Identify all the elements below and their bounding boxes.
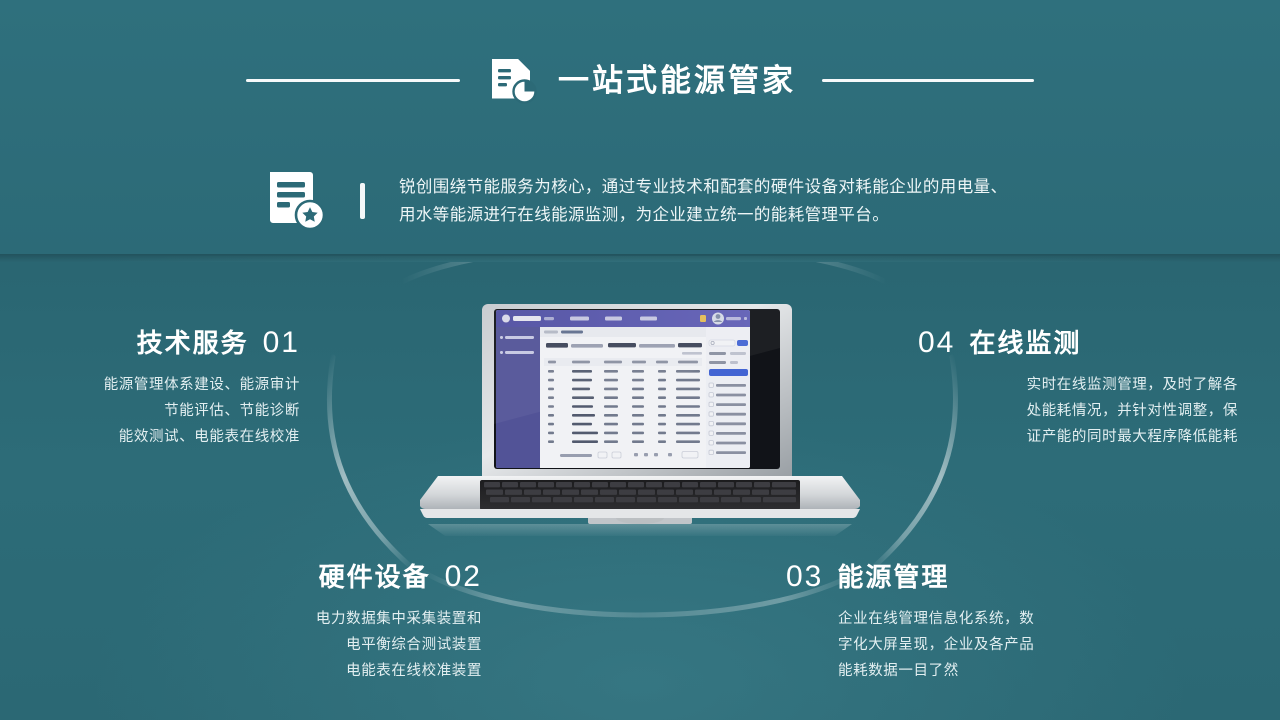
feature-02-line-3: 电能表在线校准装置 (0, 659, 482, 685)
brand: 一站式能源管家 (486, 53, 796, 107)
feature-block-02: 硬件设备 02 电力数据集中采集装置和 电平衡综合测试装置 电能表在线校准装置 (0, 562, 510, 684)
feature-04-line-1: 实时在线监测管理，及时了解各 (918, 373, 1238, 399)
header: 一站式能源管家 (0, 56, 1280, 104)
divider-line-left-icon (246, 79, 460, 82)
feature-block-01: 技术服务 01 能源管理体系建设、能源审计 节能评估、节能诊断 能效测试、电能表… (0, 328, 330, 450)
feature-03-heading: 03 能源管理 (786, 562, 1206, 592)
feature-01-line-2: 节能评估、节能诊断 (0, 399, 300, 425)
intro-line-1: 锐创围绕节能服务为核心，通过专业技术和配套的硬件设备对耗能企业的用电量、 (399, 173, 1007, 201)
feature-01-title: 技术服务 (137, 330, 249, 356)
intro-line-2: 用水等能源进行在线能源监测，为企业建立统一的能耗管理平台。 (399, 201, 1007, 229)
feature-01-body: 能源管理体系建设、能源审计 节能评估、节能诊断 能效测试、电能表在线校准 (0, 373, 300, 450)
feature-01-heading: 技术服务 01 (0, 328, 300, 358)
feature-02-number: 02 (445, 562, 482, 592)
intro-text: 锐创围绕节能服务为核心，通过专业技术和配套的硬件设备对耗能企业的用电量、 用水等… (399, 173, 1007, 230)
feature-01-line-3: 能效测试、电能表在线校准 (0, 425, 300, 451)
feature-02-line-1: 电力数据集中采集装置和 (0, 607, 482, 633)
feature-03-line-1: 企业在线管理信息化系统，数 (838, 607, 1206, 633)
feature-02-body: 电力数据集中采集装置和 电平衡综合测试装置 电能表在线校准装置 (0, 607, 482, 684)
page-title: 一站式能源管家 (558, 65, 796, 96)
feature-02-heading: 硬件设备 02 (0, 562, 482, 592)
intro-block: 锐创围绕节能服务为核心，通过专业技术和配套的硬件设备对耗能企业的用电量、 用水等… (262, 160, 1262, 242)
feature-03-line-2: 字化大屏呈现，企业及各产品 (838, 633, 1206, 659)
feature-04-title: 在线监测 (969, 330, 1081, 356)
document-star-icon (262, 166, 332, 236)
feature-04-body: 实时在线监测管理，及时了解各 处能耗情况，并针对性调整，保 证产能的同时最大程序… (918, 373, 1280, 450)
slide-canvas: 一站式能源管家 锐创围绕节能服务为核心，通过专业技术和配套的硬件设备对耗能企业的… (0, 0, 1280, 720)
feature-01-line-1: 能源管理体系建设、能源审计 (0, 373, 300, 399)
divider-line-right-icon (822, 79, 1034, 82)
feature-03-body: 企业在线管理信息化系统，数 字化大屏呈现，企业及各产品 能耗数据一目了然 (786, 607, 1206, 684)
feature-03-line-3: 能耗数据一目了然 (838, 659, 1206, 685)
intro-separator (360, 183, 365, 219)
document-chart-icon (486, 53, 540, 107)
feature-02-line-2: 电平衡综合测试装置 (0, 633, 482, 659)
feature-04-number: 04 (918, 328, 955, 358)
feature-block-04: 04 在线监测 实时在线监测管理，及时了解各 处能耗情况，并针对性调整，保 证产… (918, 328, 1280, 450)
feature-01-number: 01 (263, 328, 300, 358)
feature-03-title: 能源管理 (837, 564, 949, 590)
feature-03-number: 03 (786, 562, 823, 592)
feature-04-line-2: 处能耗情况，并针对性调整，保 (918, 399, 1238, 425)
laptop-mockup (420, 296, 860, 536)
feature-block-03: 03 能源管理 企业在线管理信息化系统，数 字化大屏呈现，企业及各产品 能耗数据… (786, 562, 1206, 684)
feature-04-line-3: 证产能的同时最大程序降低能耗 (918, 425, 1238, 451)
feature-04-heading: 04 在线监测 (918, 328, 1280, 358)
feature-02-title: 硬件设备 (319, 564, 431, 590)
